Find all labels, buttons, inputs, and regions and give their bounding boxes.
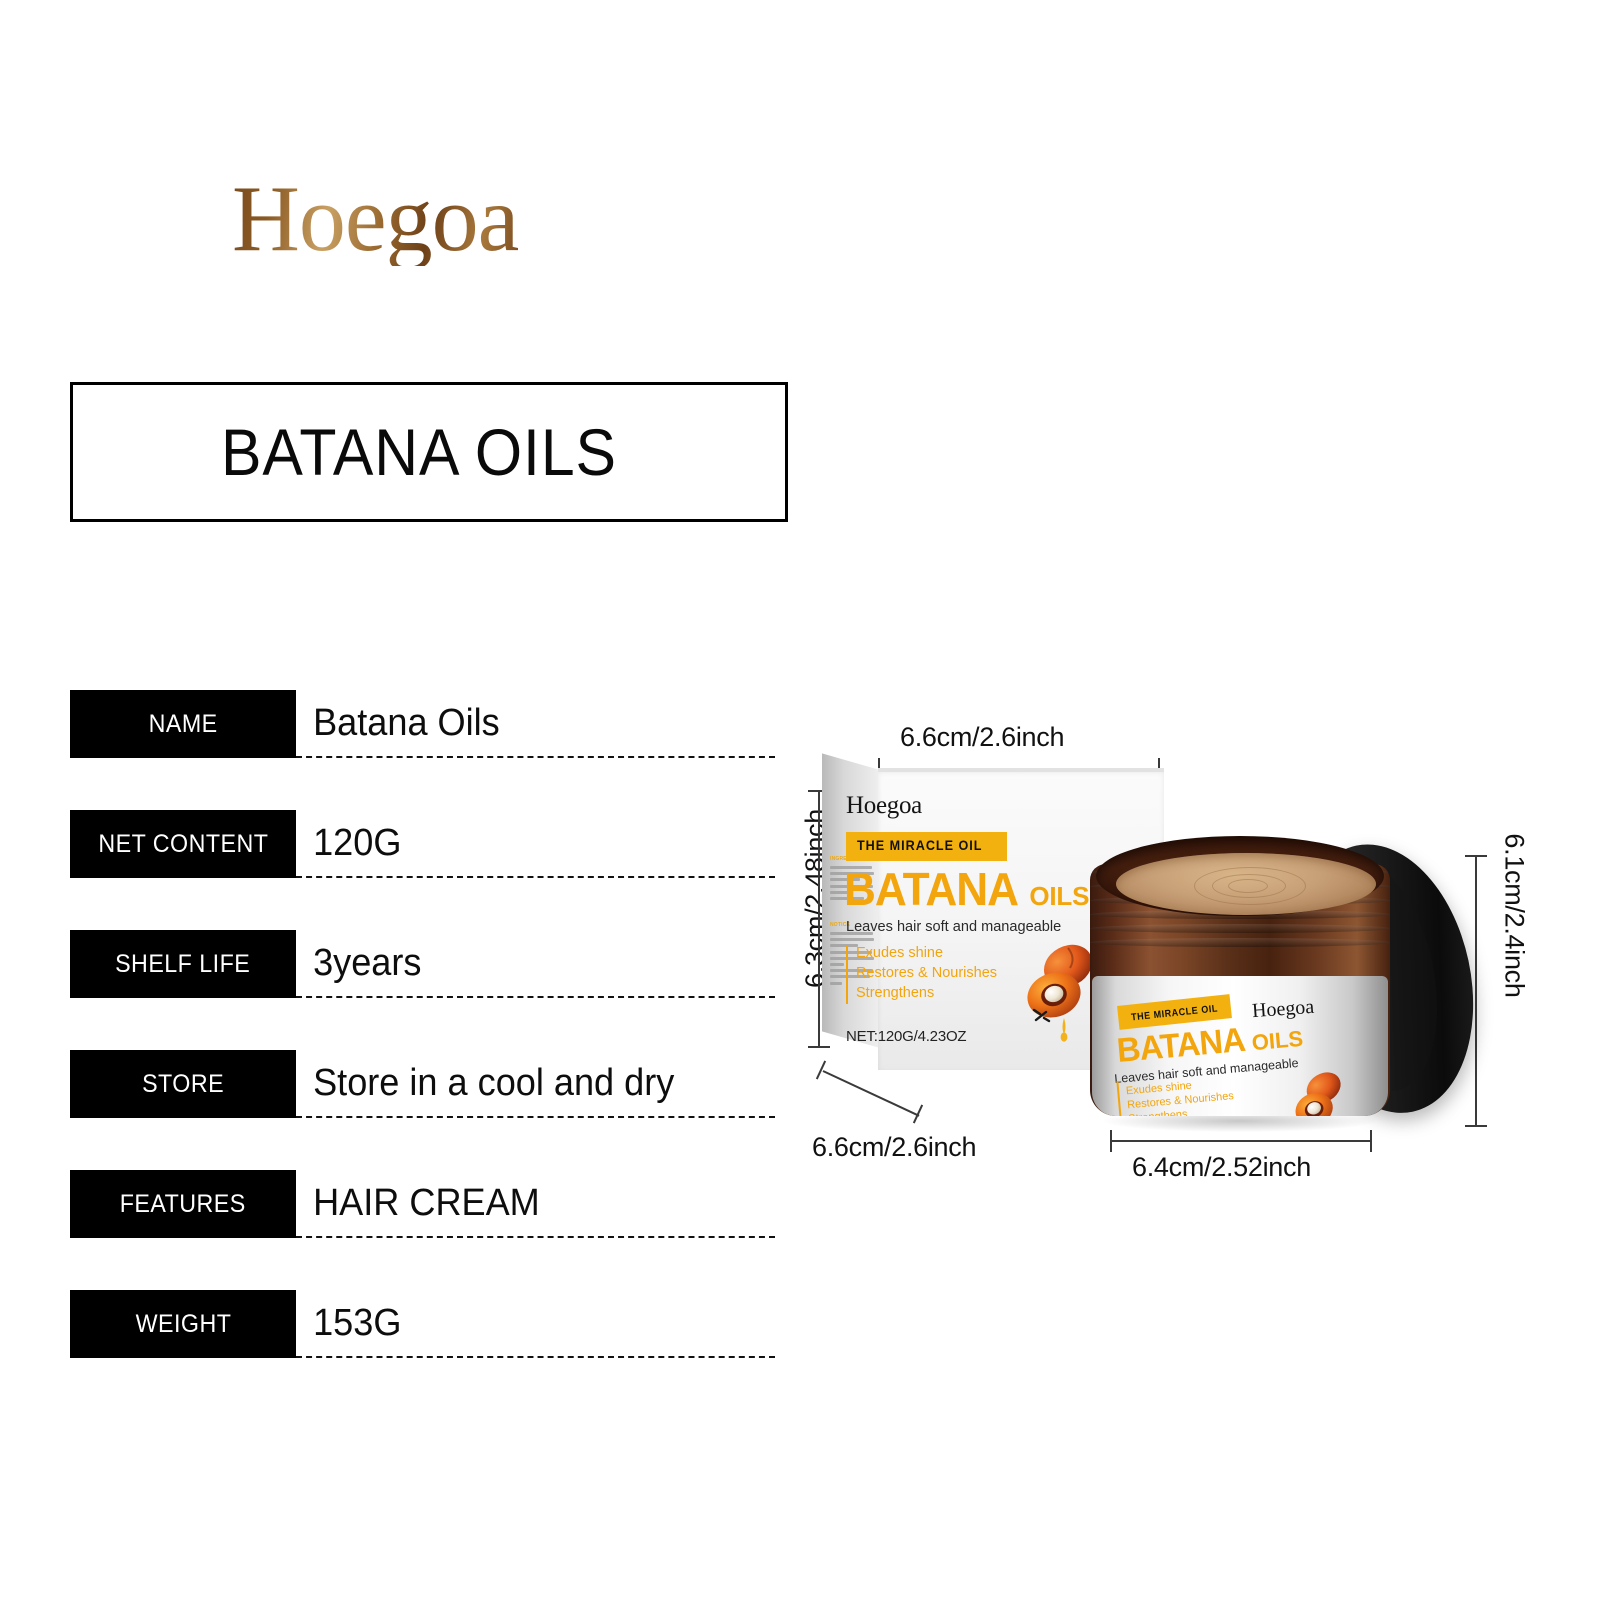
- product-image-group: 6.6cm/2.6inch 6.3cm/2.48inch 6.6cm/2.6in…: [760, 700, 1580, 1220]
- carton-headline-sub: OILS: [1029, 881, 1089, 911]
- palm-fruit-icon: [1285, 1066, 1352, 1116]
- spec-label: FEATURES: [120, 1190, 246, 1219]
- jar-headline-sub: OILS: [1251, 1026, 1304, 1055]
- brand-logo: Hoegoa: [232, 172, 518, 266]
- spec-value: 3years: [296, 942, 421, 985]
- product-jar: THE MIRACLE OIL Hoegoa BATANAOILS Leaves…: [1090, 828, 1390, 1138]
- carton-badge: THE MIRACLE OIL: [846, 832, 1007, 861]
- carton-headline-main: BATANA: [844, 862, 1018, 916]
- dimension-cap: [1465, 1125, 1487, 1127]
- spec-label: STORE: [142, 1070, 224, 1099]
- table-row: SHELF LIFE 3years: [70, 930, 775, 998]
- dimension-jar-width: 6.4cm/2.52inch: [1132, 1152, 1311, 1183]
- dimension-line: [823, 1070, 920, 1117]
- dimension-line: [818, 790, 820, 1048]
- page-title-box: BATANA OILS: [70, 382, 788, 522]
- table-row: NET CONTENT 120G: [70, 810, 775, 878]
- table-row: STORE Store in a cool and dry: [70, 1050, 775, 1118]
- table-row: WEIGHT 153G: [70, 1290, 775, 1358]
- carton-bullet: Strengthens: [846, 985, 997, 1001]
- jar-label: THE MIRACLE OIL Hoegoa BATANAOILS Leaves…: [1092, 976, 1388, 1116]
- spec-value: Store in a cool and dry: [296, 1062, 674, 1105]
- spec-label-chip: WEIGHT: [70, 1290, 296, 1358]
- dimension-carton-depth: 6.6cm/2.6inch: [812, 1132, 976, 1163]
- carton-bullet-list: Exudes shine Restores & Nourishes Streng…: [846, 945, 997, 1005]
- spec-label-chip: NAME: [70, 690, 296, 758]
- page-title-label: BATANA OILS: [221, 419, 617, 485]
- jar-badge-label: THE MIRACLE OIL: [1131, 1003, 1219, 1023]
- spec-value: 153G: [296, 1302, 401, 1345]
- spec-label-chip: SHELF LIFE: [70, 930, 296, 998]
- spec-value-field: 120G: [296, 810, 775, 878]
- spec-value: 120G: [296, 822, 401, 865]
- spec-label: NAME: [148, 710, 217, 739]
- specification-table: NAME Batana Oils NET CONTENT 120G SHELF …: [70, 690, 775, 1410]
- spec-label: SHELF LIFE: [115, 950, 250, 979]
- carton-bullet: Exudes shine: [846, 945, 997, 961]
- jar-cream-surface: [1116, 853, 1376, 915]
- spec-value-field: Batana Oils: [296, 690, 775, 758]
- spec-value: Batana Oils: [296, 702, 500, 745]
- carton-headline: BATANAOILS: [844, 862, 1089, 916]
- table-row: FEATURES HAIR CREAM: [70, 1170, 775, 1238]
- page-title: BATANA OILS: [221, 419, 651, 485]
- spec-label: WEIGHT: [135, 1310, 231, 1339]
- carton-top-edge: [878, 768, 1164, 772]
- spec-value-field: HAIR CREAM: [296, 1170, 775, 1238]
- spec-value-field: 153G: [296, 1290, 775, 1358]
- spec-label: NET CONTENT: [98, 830, 268, 859]
- spec-value-field: 3years: [296, 930, 775, 998]
- spec-value: HAIR CREAM: [296, 1182, 540, 1225]
- dimension-carton-width: 6.6cm/2.6inch: [900, 722, 1064, 753]
- carton-bullet: Restores & Nourishes: [846, 965, 997, 981]
- dimension-jar-height: 6.1cm/2.4inch: [1499, 833, 1530, 997]
- spec-value-field: Store in a cool and dry: [296, 1050, 775, 1118]
- carton-badge-label: THE MIRACLE OIL: [857, 837, 982, 853]
- spec-label-chip: NET CONTENT: [70, 810, 296, 878]
- carton-tagline: Leaves hair soft and manageable: [846, 918, 1061, 935]
- jar-mouth-rim: [1096, 836, 1384, 916]
- spec-label-chip: STORE: [70, 1050, 296, 1118]
- carton-brand-logo: Hoegoa: [846, 792, 922, 820]
- table-row: NAME Batana Oils: [70, 690, 775, 758]
- carton-net-weight: NET:120G/4.23OZ: [846, 1028, 966, 1045]
- spec-label-chip: FEATURES: [70, 1170, 296, 1238]
